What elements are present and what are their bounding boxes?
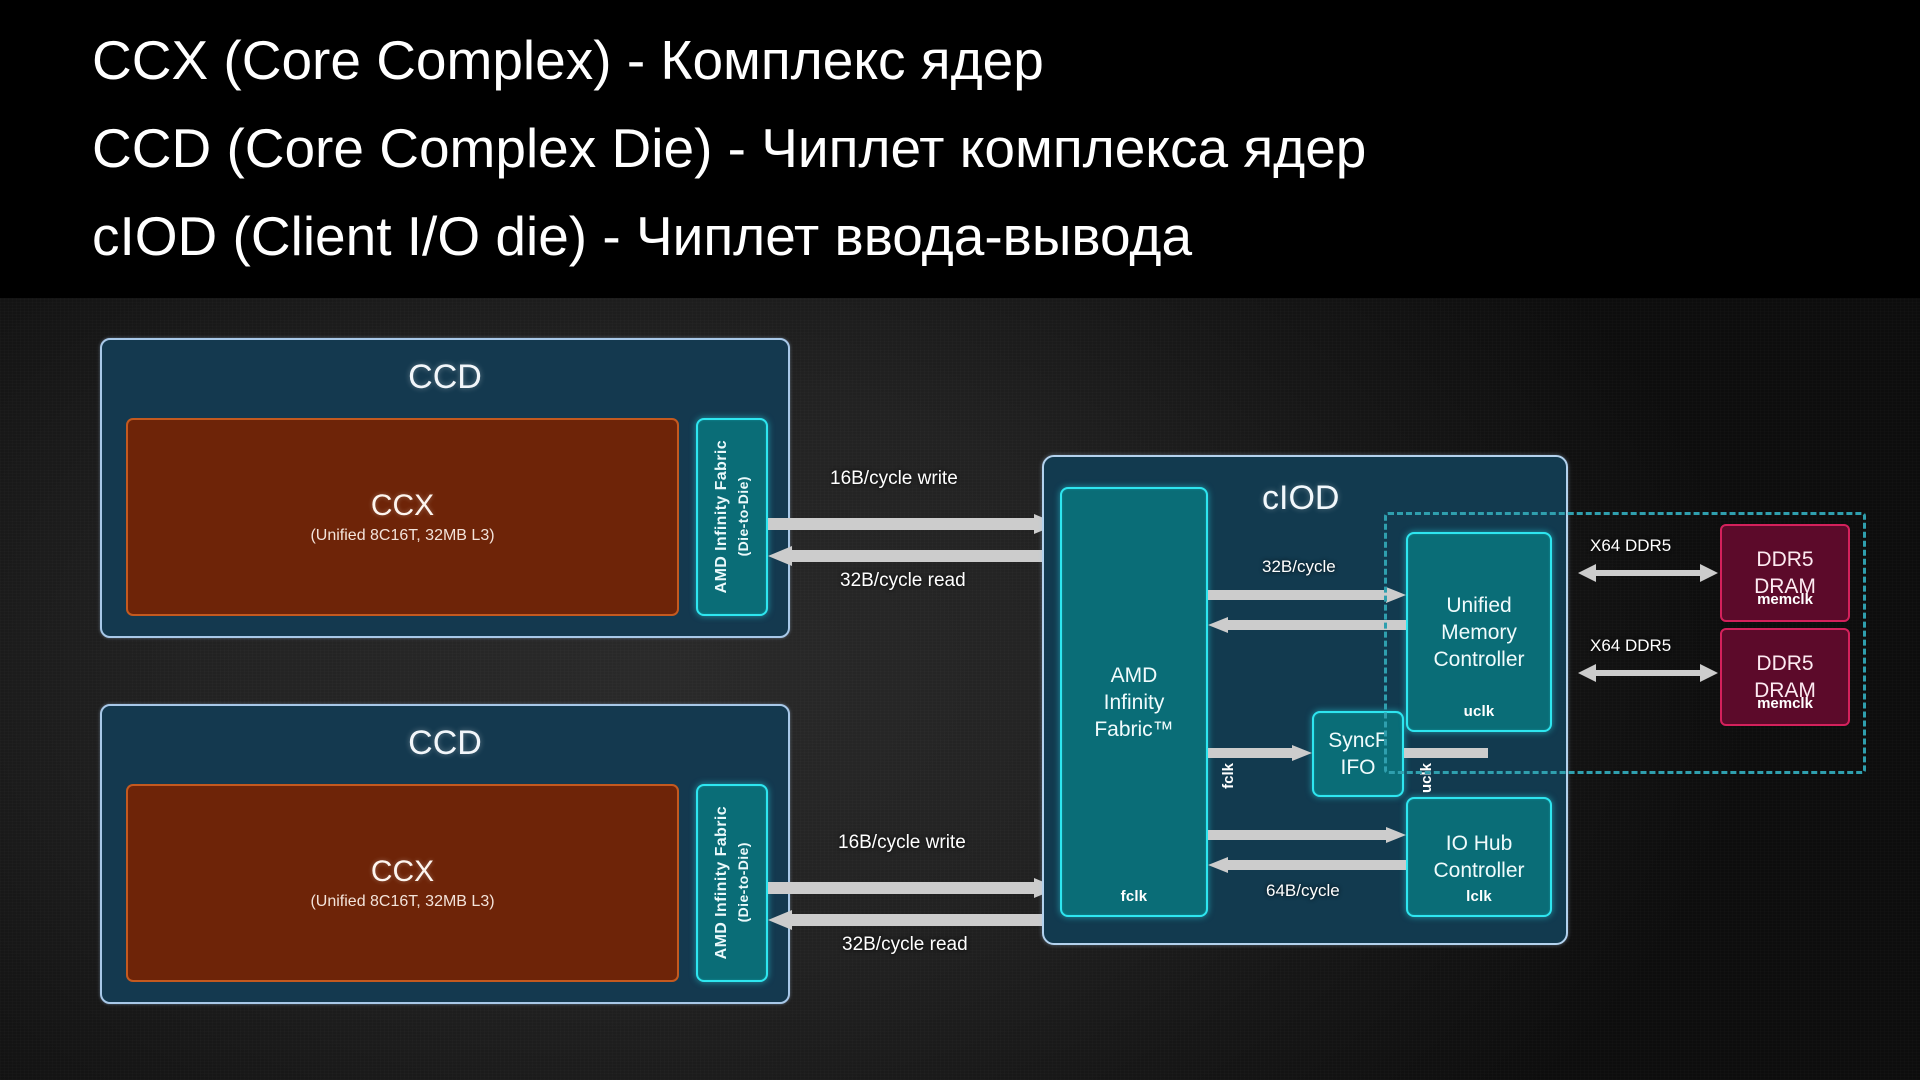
label-ccd-top-write: 16B/cycle write (830, 468, 958, 490)
label-ccd-top-read: 32B/cycle read (840, 570, 966, 592)
ccd-top-label: CCD (102, 358, 788, 397)
title-line-ccd: CCD (Core Complex Die) - Чиплет комплекс… (92, 104, 1920, 192)
ccd-bottom-label: CCD (102, 724, 788, 763)
ccx-bottom[interactable]: CCX (Unified 8C16T, 32MB L3) (126, 784, 679, 982)
syncfifo-line2: IFO (1341, 754, 1376, 781)
label-ccd-bottom-write: 16B/cycle write (838, 832, 966, 854)
iohub-line1: IO Hub (1446, 830, 1513, 857)
diagram-stage: CCD CCX (Unified 8C16T, 32MB L3) AMD Inf… (0, 298, 1920, 1080)
infinity-fabric-die-to-die-bottom-label: AMD Infinity Fabric(Die-to-Die) (711, 806, 754, 959)
label-ddr5-link-top: X64 DDR5 (1590, 536, 1671, 556)
label-ccd-bottom-read: 32B/cycle read (842, 934, 968, 956)
dram-bottom-clock: memclk (1722, 695, 1848, 712)
infinity-fabric-line3: Fabric™ (1094, 716, 1173, 743)
ccx-top-sublabel: (Unified 8C16T, 32MB L3) (310, 527, 494, 545)
arrow-ccd-bottom-read (768, 910, 1058, 930)
dram-bottom-line1: DDR5 (1756, 650, 1813, 677)
arrow-umc-dram-top (1578, 564, 1718, 582)
arrow-if-to-iohub (1208, 827, 1406, 843)
title-line-ciod: cIOD (Client I/O die) - Чиплет ввода-выв… (92, 192, 1920, 280)
infinity-fabric-die-to-die-top-label: AMD Infinity Fabric(Die-to-Die) (711, 440, 754, 593)
ciod-label: cIOD (1262, 479, 1339, 518)
dram-bottom[interactable]: DDR5 DRAM memclk (1720, 628, 1850, 726)
ccd-top[interactable]: CCD CCX (Unified 8C16T, 32MB L3) AMD Inf… (100, 338, 790, 638)
ccd-bottom[interactable]: CCD CCX (Unified 8C16T, 32MB L3) AMD Inf… (100, 704, 790, 1004)
arrow-ccd-bottom-write (768, 878, 1058, 898)
arrow-if-to-umc (1208, 587, 1406, 603)
ccx-bottom-sublabel: (Unified 8C16T, 32MB L3) (310, 893, 494, 911)
infinity-fabric-die-to-die-top[interactable]: AMD Infinity Fabric(Die-to-Die) (696, 418, 768, 616)
ccx-bottom-label: CCX (371, 855, 434, 889)
io-hub-controller[interactable]: IO Hub Controller lclk (1406, 797, 1552, 917)
iohub-clock: lclk (1408, 888, 1550, 905)
infinity-fabric-line2: Infinity (1104, 689, 1165, 716)
label-umc-link: 32B/cycle (1262, 557, 1336, 577)
label-fclk-domain: fclk (1220, 763, 1237, 789)
infinity-fabric-main[interactable]: AMD Infinity Fabric™ fclk (1060, 487, 1208, 917)
arrow-umc-to-if (1208, 617, 1406, 633)
dram-top-line1: DDR5 (1756, 546, 1813, 573)
label-ddr5-link-bottom: X64 DDR5 (1590, 636, 1671, 656)
ccx-top[interactable]: CCX (Unified 8C16T, 32MB L3) (126, 418, 679, 616)
infinity-fabric-die-to-die-bottom[interactable]: AMD Infinity Fabric(Die-to-Die) (696, 784, 768, 982)
arrow-umc-dram-bottom (1578, 664, 1718, 682)
syncfifo-line1: SyncF (1328, 727, 1388, 754)
label-iohub-link: 64B/cycle (1266, 881, 1340, 901)
arrow-iohub-to-if (1208, 857, 1406, 873)
arrow-if-to-syncfifo (1208, 745, 1312, 761)
slide-root: CCX (Core Complex) - Комплекс ядер CCD (… (0, 0, 1920, 1080)
iohub-line2: Controller (1433, 857, 1524, 884)
arrow-ccd-top-read (768, 546, 1058, 566)
dram-top[interactable]: DDR5 DRAM memclk (1720, 524, 1850, 622)
arrow-ccd-top-write (768, 514, 1058, 534)
ccx-top-label: CCX (371, 489, 434, 523)
title-band: CCX (Core Complex) - Комплекс ядер CCD (… (0, 0, 1920, 298)
infinity-fabric-line1: AMD (1111, 662, 1158, 689)
title-line-ccx: CCX (Core Complex) - Комплекс ядер (92, 16, 1920, 104)
dram-top-clock: memclk (1722, 591, 1848, 608)
infinity-fabric-clock: fclk (1062, 888, 1206, 905)
